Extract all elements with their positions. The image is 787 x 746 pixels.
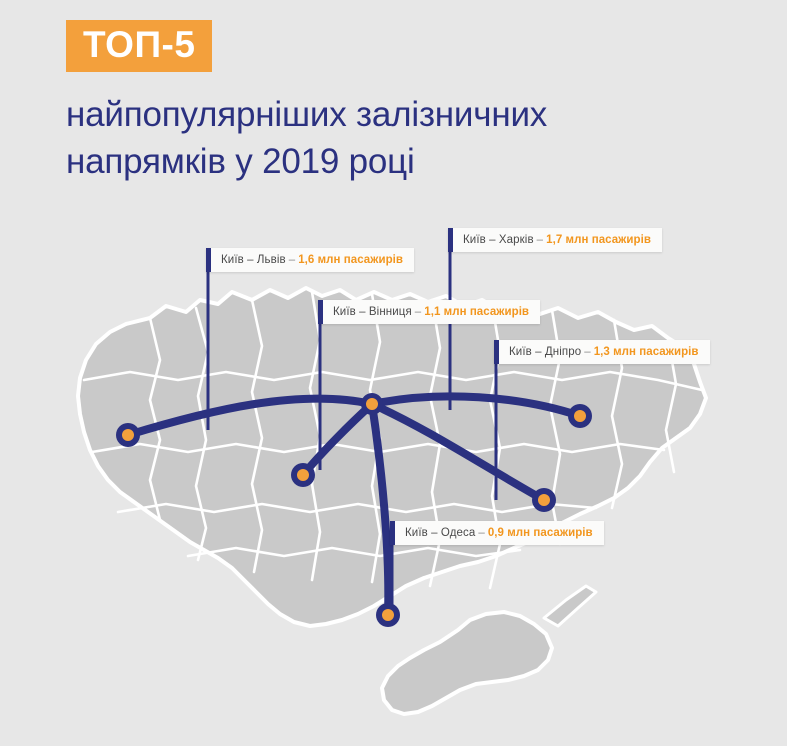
callout-separator: –	[581, 346, 594, 358]
city-marker-vinnytsia[interactable]	[291, 463, 315, 487]
callout-lviv[interactable]: Київ – Львів – 1,6 млн пасажирів	[206, 248, 414, 272]
callout-separator: –	[286, 254, 299, 266]
callout-separator: –	[534, 234, 547, 246]
callout-route-label: Київ – Харків	[463, 234, 534, 246]
callout-dnipro[interactable]: Київ – Дніпро – 1,3 млн пасажирів	[494, 340, 710, 364]
callout-value-label: 1,1 млн пасажирів	[424, 306, 529, 318]
map-crimea	[382, 612, 552, 714]
city-marker-kharkiv[interactable]	[568, 404, 592, 428]
callout-separator: –	[412, 306, 425, 318]
infographic-root: ТОП-5 найпопулярніших залізничних напрям…	[0, 0, 787, 746]
callout-route-label: Київ – Дніпро	[509, 346, 581, 358]
callout-route-label: Київ – Вінниця	[333, 306, 412, 318]
callout-kharkiv[interactable]: Київ – Харків – 1,7 млн пасажирів	[448, 228, 662, 252]
callout-box: Київ – Харків – 1,7 млн пасажирів	[453, 228, 662, 252]
callout-value-label: 1,3 млн пасажирів	[594, 346, 699, 358]
callout-odesa[interactable]: Київ – Одеса – 0,9 млн пасажирів	[390, 521, 604, 545]
callout-route-label: Київ – Львів	[221, 254, 286, 266]
callout-value-label: 1,7 млн пасажирів	[546, 234, 651, 246]
callout-box: Київ – Одеса – 0,9 млн пасажирів	[395, 521, 604, 545]
callout-box: Київ – Вінниця – 1,1 млн пасажирів	[323, 300, 540, 324]
headline-line-1: найпопулярніших залізничних	[66, 92, 746, 139]
top5-badge: ТОП-5	[66, 20, 212, 72]
city-marker-lviv[interactable]	[116, 423, 140, 447]
callout-vinnytsia[interactable]: Київ – Вінниця – 1,1 млн пасажирів	[318, 300, 540, 324]
headline-line-2: напрямків у 2019 році	[66, 139, 746, 186]
callout-box: Київ – Дніпро – 1,3 млн пасажирів	[499, 340, 710, 364]
city-marker-dnipro[interactable]	[532, 488, 556, 512]
page-title: найпопулярніших залізничних напрямків у …	[66, 92, 746, 186]
city-marker-kyiv[interactable]	[361, 393, 383, 415]
city-marker-odesa[interactable]	[376, 603, 400, 627]
callout-value-label: 1,6 млн пасажирів	[298, 254, 403, 266]
callout-separator: –	[475, 527, 488, 539]
callout-value-label: 0,9 млн пасажирів	[488, 527, 593, 539]
map-kerch-strip	[544, 586, 596, 626]
callout-box: Київ – Львів – 1,6 млн пасажирів	[211, 248, 414, 272]
callout-route-label: Київ – Одеса	[405, 527, 475, 539]
